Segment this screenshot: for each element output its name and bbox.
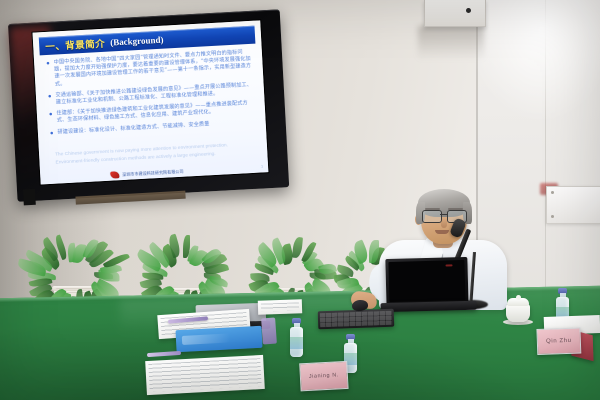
bullet-icon: ● [50, 129, 54, 138]
company-logo-icon [110, 171, 119, 178]
slide-page-number: 1 [261, 164, 263, 168]
cup-body [506, 304, 530, 322]
plant-leaf [292, 237, 303, 259]
name-card-right[interactable]: Qin Zhu [536, 327, 595, 363]
name-card-center[interactable]: Jianing N. [299, 361, 353, 396]
document-paper[interactable] [145, 355, 265, 395]
wall-sign-panel [546, 186, 600, 224]
presenter-mouth [435, 230, 449, 234]
air-vent-icon [424, 0, 486, 27]
laptop-screen [388, 260, 465, 302]
purple-stationery[interactable] [261, 318, 277, 345]
cup-knob [516, 295, 521, 300]
slide-footer: 深圳市市建设科技研究院有限公司 [110, 168, 184, 179]
laptop-logo-icon [445, 264, 452, 266]
tv-screen: 一、背景简介 (Background) ● 中国中央国务院、各地中国“四大家园”… [33, 20, 269, 184]
bullet-icon: ● [48, 93, 52, 108]
paper-text-lines [148, 358, 261, 392]
slide-english-summary: The Chinese government is now paying mor… [55, 141, 252, 168]
paper-text-lines [261, 302, 299, 311]
lens-left [422, 210, 442, 223]
blue-folder[interactable] [175, 326, 262, 352]
name-card-label: Qin Zhu [546, 338, 572, 345]
plant-leaf [142, 272, 163, 279]
panel-pin-icon [551, 191, 554, 194]
presentation-slide: 一、背景简介 (Background) ● 中国中央国务院、各地中国“四大家园”… [33, 20, 269, 184]
slide-title-chinese: 一、背景简介 [45, 36, 106, 53]
laptop-lid [385, 257, 468, 305]
teacup-with-lid[interactable] [505, 296, 531, 322]
document-paper[interactable] [258, 299, 302, 315]
company-name: 深圳市市建设科技研究院有限公司 [122, 168, 184, 177]
name-card-face: Qin Zhu [536, 327, 581, 355]
keyboard[interactable] [318, 309, 395, 330]
slide-bullet-list: ● 中国中央国务院、各地中国“四大家园”管理通知时文件、要点力推文明白的指标问题… [46, 49, 256, 143]
tv-mount-foot [23, 189, 36, 206]
photo-scene: 一、背景简介 (Background) ● 中国中央国务院、各地中国“四大家园”… [0, 0, 600, 400]
bullet-icon: ● [49, 111, 53, 126]
bottle-label [290, 337, 303, 349]
panel-pin-icon [551, 215, 554, 218]
plant-leaf [250, 272, 269, 282]
bullet-icon: ● [46, 60, 51, 89]
name-card-face: Jianing N. [299, 361, 348, 391]
name-card-label: Jianing N. [309, 372, 339, 380]
glasses-bridge [440, 214, 447, 215]
vent-sensor-icon [466, 8, 471, 13]
wall-mounted-tv[interactable]: 一、背景简介 (Background) ● 中国中央国务院、各地中国“四大家园”… [8, 9, 289, 201]
vent-shadow [418, 26, 484, 60]
presenter-nose [441, 218, 447, 228]
slide-title-english: (Background) [110, 35, 164, 48]
ceiling-light-glow [470, 0, 600, 120]
black-laptop[interactable] [385, 257, 468, 311]
